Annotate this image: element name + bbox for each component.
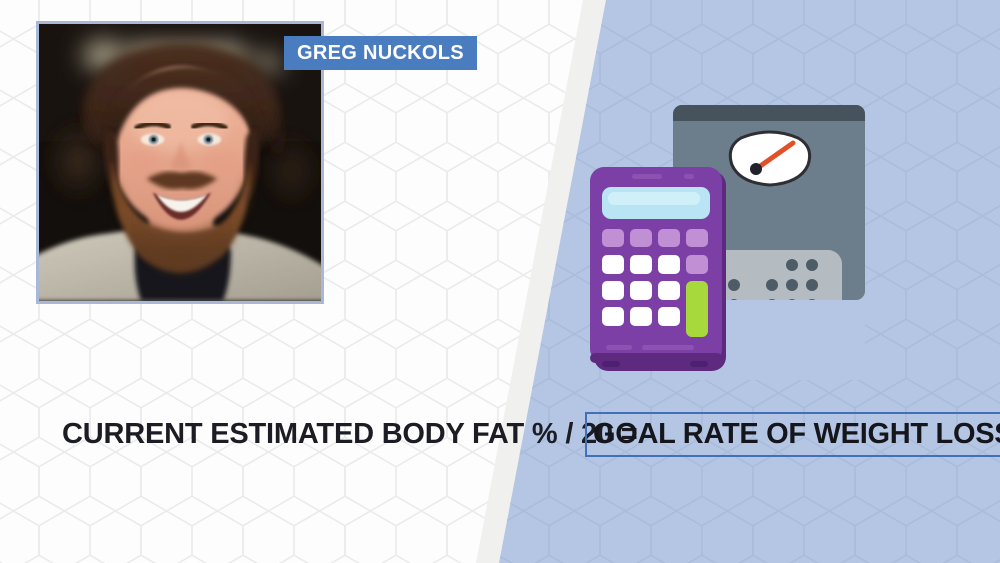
formula-left-text: CURRENT ESTIMATED BODY FAT % / 20 =	[62, 410, 638, 458]
calculator-icon	[590, 167, 726, 371]
speaker-name-label: GREG NUCKOLS	[297, 42, 464, 65]
formula-result-text: GOAL RATE OF WEIGHT LOSS	[593, 418, 1000, 451]
slide-canvas: GREG NUCKOLS	[0, 0, 1000, 563]
scale-dial	[730, 132, 809, 185]
formula-line: CURRENT ESTIMATED BODY FAT % / 20 = GOAL…	[0, 410, 1000, 458]
formula-result-box: GOAL RATE OF WEIGHT LOSS	[585, 412, 1000, 457]
portrait-photo	[36, 21, 324, 304]
speaker-name-tag: GREG NUCKOLS	[284, 36, 477, 70]
scale-and-calculator-illustration	[580, 95, 880, 380]
